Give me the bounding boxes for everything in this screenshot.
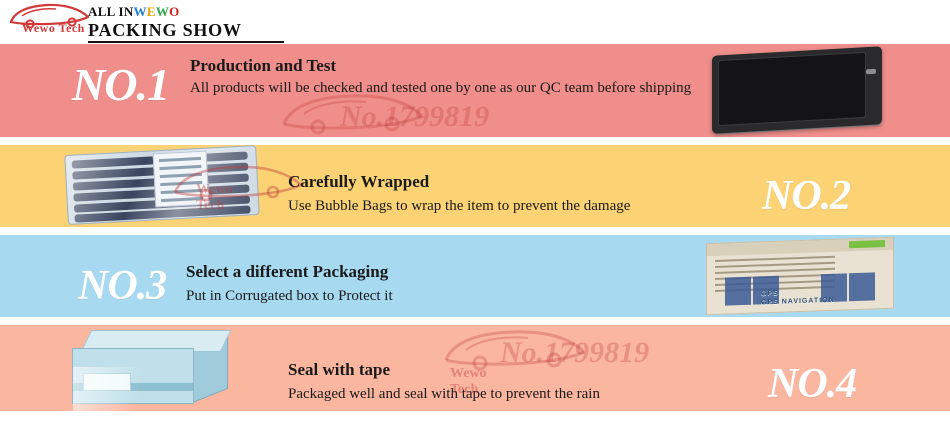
header: Wewo Tech ALL IN WEWO PACKING SHOW [0,0,950,44]
gps-navigation-unit-photo [706,47,888,135]
step-description-3: Put in Corrugated box to Protect it [186,286,706,307]
step-number-3: NO.3 [78,262,166,310]
step-description-4: Packaged well and seal with tape to prev… [288,384,808,405]
step-title-1: Production and Test [190,56,336,76]
step-number-1: NO.1 [72,58,169,111]
row-gap-2 [0,227,950,235]
step-title-3: Select a different Packaging [186,262,388,282]
bubble-wrapped-items-photo [66,146,264,224]
logo-text: Wewo Tech [22,21,85,36]
carton-gps-sub: GPS NAVIGATION [761,297,835,307]
header-title-line1: ALL IN WEWO [88,4,180,20]
step-description-2: Use Bubble Bags to wrap the item to prev… [288,196,808,217]
carton-top-band [707,238,893,256]
box-front-panel [72,348,194,404]
gps-screen [718,52,866,126]
carton-green-label [849,240,885,248]
header-underline [88,41,284,43]
bubble-bag-label [153,151,210,208]
step-title-4: Seal with tape [288,360,390,380]
row-gap-1 [0,137,950,145]
carton-gps-text: GPS GPS NAVIGATION [761,276,835,307]
gps-power-button [866,69,876,75]
step-title-2: Carefully Wrapped [288,172,429,192]
header-title-line2: PACKING SHOW [88,20,242,41]
packing-show-banner: Wewo Tech ALL IN WEWO PACKING SHOW NO.1 … [0,0,950,426]
header-title-w2: W [156,4,169,20]
box-sheen [73,367,193,421]
header-title-o: O [169,4,179,20]
brand-logo: Wewo Tech [8,2,92,42]
step-description-1: All products will be checked and tested … [190,78,710,99]
carton-face: GPS GPS NAVIGATION [706,237,894,316]
corrugated-gps-carton-photo: GPS GPS NAVIGATION [706,240,896,314]
carton-gps-main: GPS [761,290,779,298]
header-title-w: W [134,4,147,20]
row-gap-3 [0,317,950,325]
header-title-e: E [147,4,156,20]
header-title-allin: ALL IN [88,4,134,20]
taped-sealed-box-photo [72,330,240,408]
